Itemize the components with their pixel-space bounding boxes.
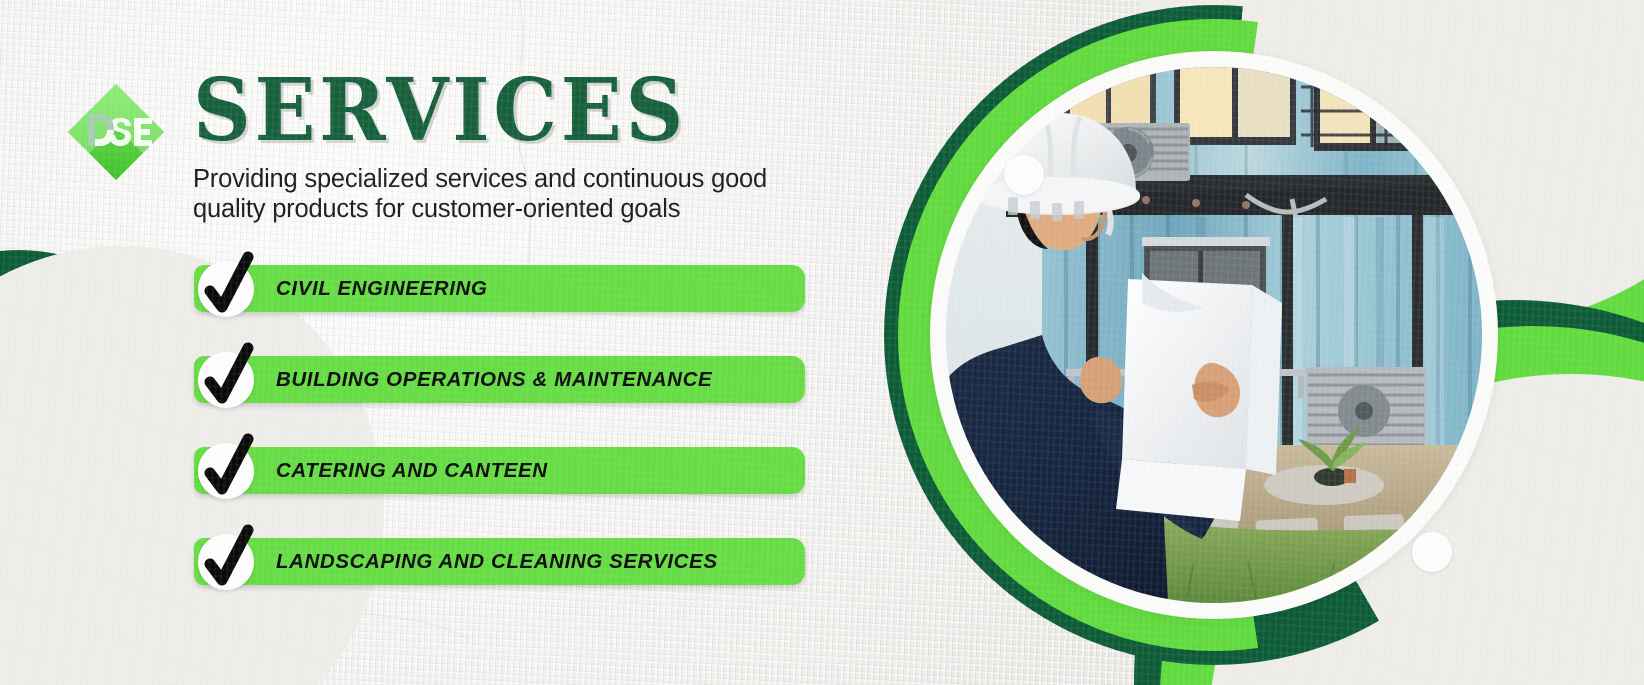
services-list: CIVIL ENGINEERING BUILDING OPERATIONS & … [194, 265, 814, 629]
page-subtitle: Providing specialized services and conti… [193, 164, 833, 224]
list-item[interactable]: CATERING AND CANTEEN [194, 447, 814, 538]
page-title: SERVICES [193, 68, 687, 154]
photo-medallion [884, 5, 1544, 665]
dse-diamond-logo[interactable] [62, 78, 170, 186]
services-banner: SERVICES Providing specialized services … [0, 0, 1644, 685]
list-item[interactable]: CIVIL ENGINEERING [194, 265, 814, 356]
ring-accent-dot-bottom [1412, 532, 1452, 572]
checkmark-icon [198, 251, 256, 323]
service-label: BUILDING OPERATIONS & MAINTENANCE [276, 356, 712, 403]
checkmark-icon [198, 342, 256, 414]
list-item[interactable]: BUILDING OPERATIONS & MAINTENANCE [194, 356, 814, 447]
checkmark-icon [198, 433, 256, 505]
ring-accent-dot-top [1004, 155, 1044, 195]
service-label: CIVIL ENGINEERING [276, 265, 487, 312]
checkmark-icon [198, 524, 256, 596]
engineer-with-blueprint-photo [946, 67, 1482, 603]
list-item[interactable]: LANDSCAPING AND CLEANING SERVICES [194, 538, 814, 629]
service-label: LANDSCAPING AND CLEANING SERVICES [276, 538, 718, 585]
service-label: CATERING AND CANTEEN [276, 447, 548, 494]
